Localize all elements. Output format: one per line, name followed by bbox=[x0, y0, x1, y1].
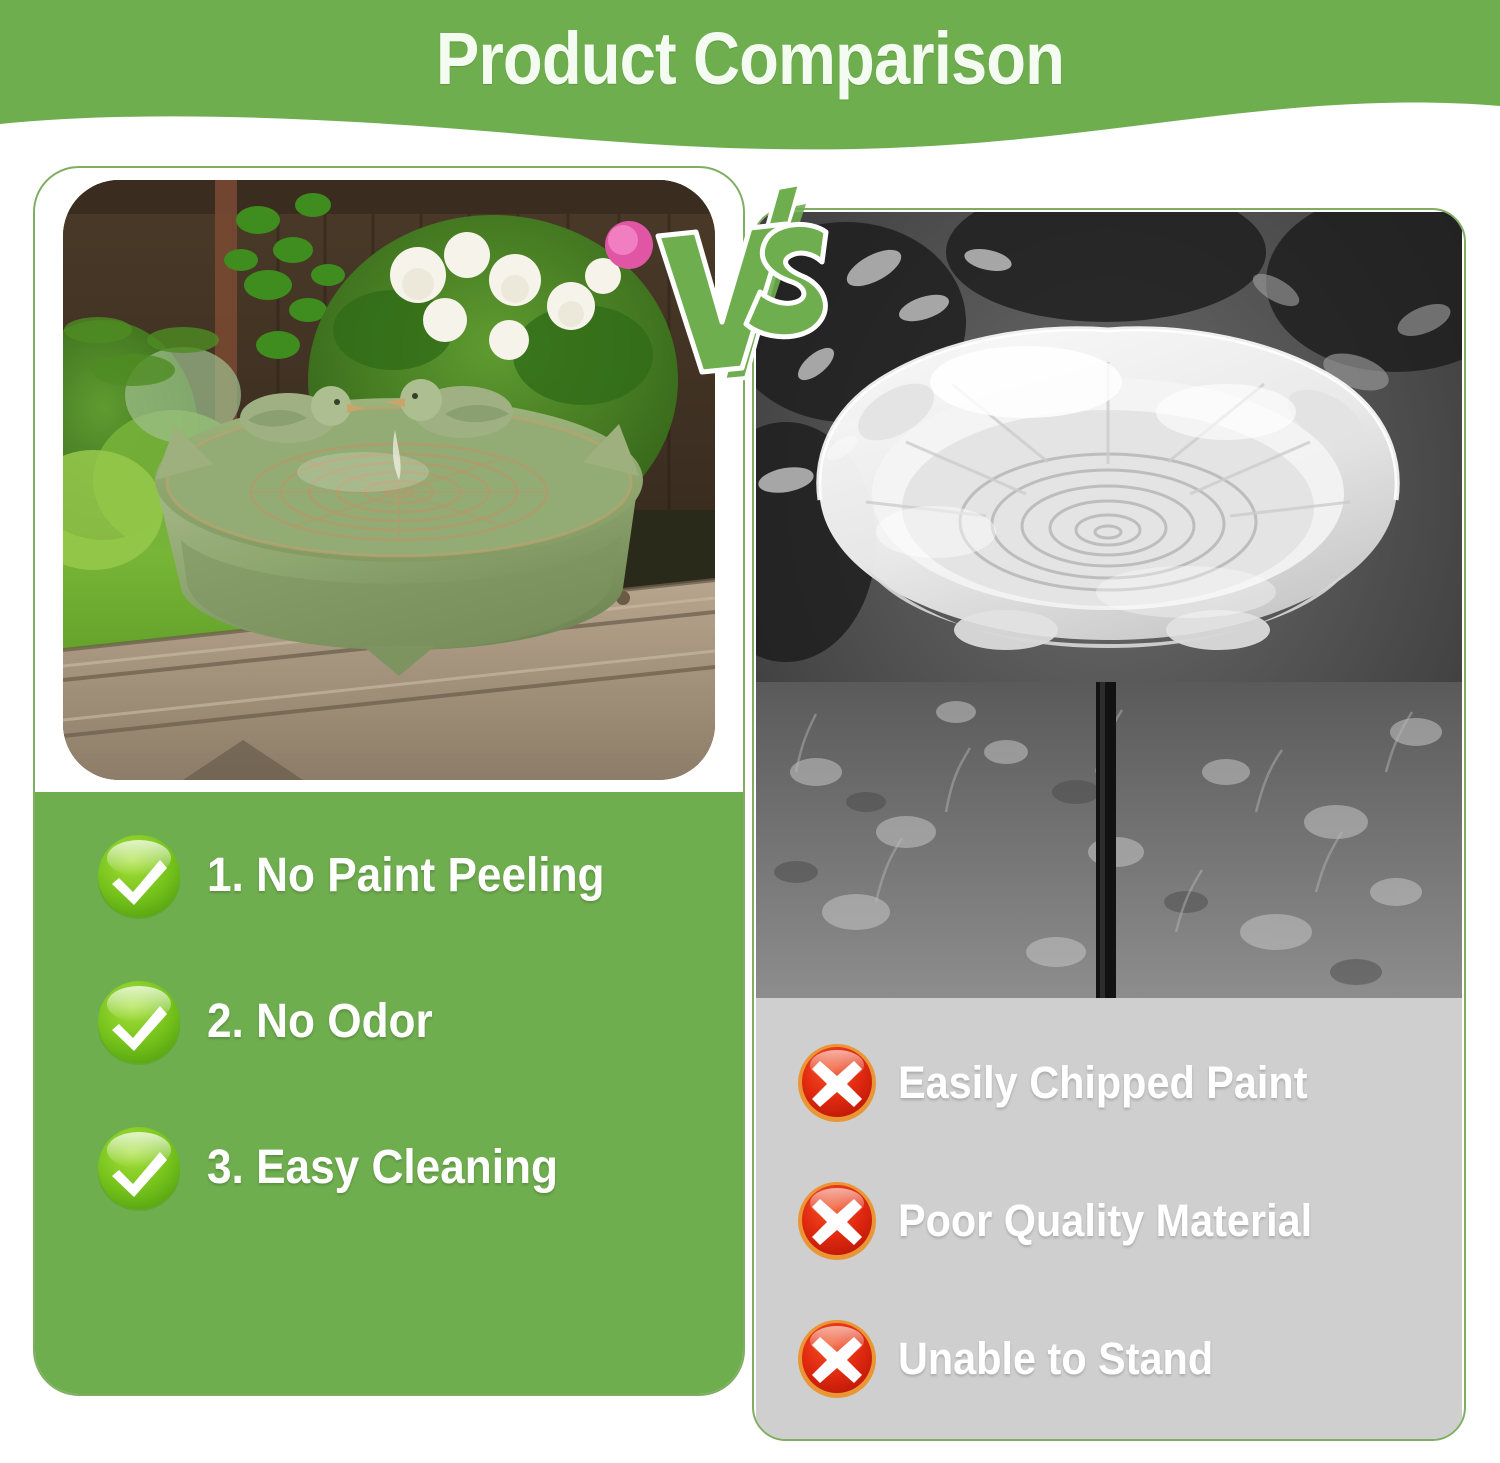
page-title: Product Comparison bbox=[90, 20, 1410, 98]
list-item: 1. No Paint Peeling bbox=[95, 828, 735, 924]
list-item: Unable to Stand bbox=[796, 1312, 1466, 1404]
list-item-label: Unable to Stand bbox=[898, 1334, 1213, 1383]
list-item: Poor Quality Material bbox=[796, 1174, 1466, 1266]
right-product-photo bbox=[756, 212, 1462, 998]
list-item-label: 3. Easy Cleaning bbox=[207, 1142, 558, 1194]
header-banner: Product Comparison bbox=[0, 0, 1500, 152]
check-circle-icon bbox=[95, 832, 183, 920]
left-product-panel: 1. No Paint Peeling 2. No Odor bbox=[33, 166, 745, 1396]
left-photo-artwork bbox=[63, 180, 715, 780]
right-disadvantages-list: Easily Chipped Paint Poor Quality Materi… bbox=[756, 998, 1462, 1439]
list-item: 2. No Odor bbox=[95, 974, 735, 1070]
check-circle-icon bbox=[95, 1124, 183, 1212]
list-item-label: Easily Chipped Paint bbox=[898, 1058, 1308, 1107]
list-item: 3. Easy Cleaning bbox=[95, 1120, 735, 1216]
x-circle-icon bbox=[796, 1317, 878, 1399]
x-circle-icon bbox=[796, 1041, 878, 1123]
list-item-label: 1. No Paint Peeling bbox=[207, 850, 605, 902]
list-item-label: Poor Quality Material bbox=[898, 1196, 1312, 1245]
left-product-photo bbox=[63, 180, 715, 780]
list-item: Easily Chipped Paint bbox=[796, 1036, 1466, 1128]
right-product-panel: Easily Chipped Paint Poor Quality Materi… bbox=[752, 208, 1466, 1441]
list-item-label: 2. No Odor bbox=[207, 996, 433, 1048]
x-circle-icon bbox=[796, 1179, 878, 1261]
right-photo-artwork bbox=[756, 212, 1462, 998]
left-advantages-list: 1. No Paint Peeling 2. No Odor bbox=[35, 792, 743, 1396]
check-circle-icon bbox=[95, 978, 183, 1066]
